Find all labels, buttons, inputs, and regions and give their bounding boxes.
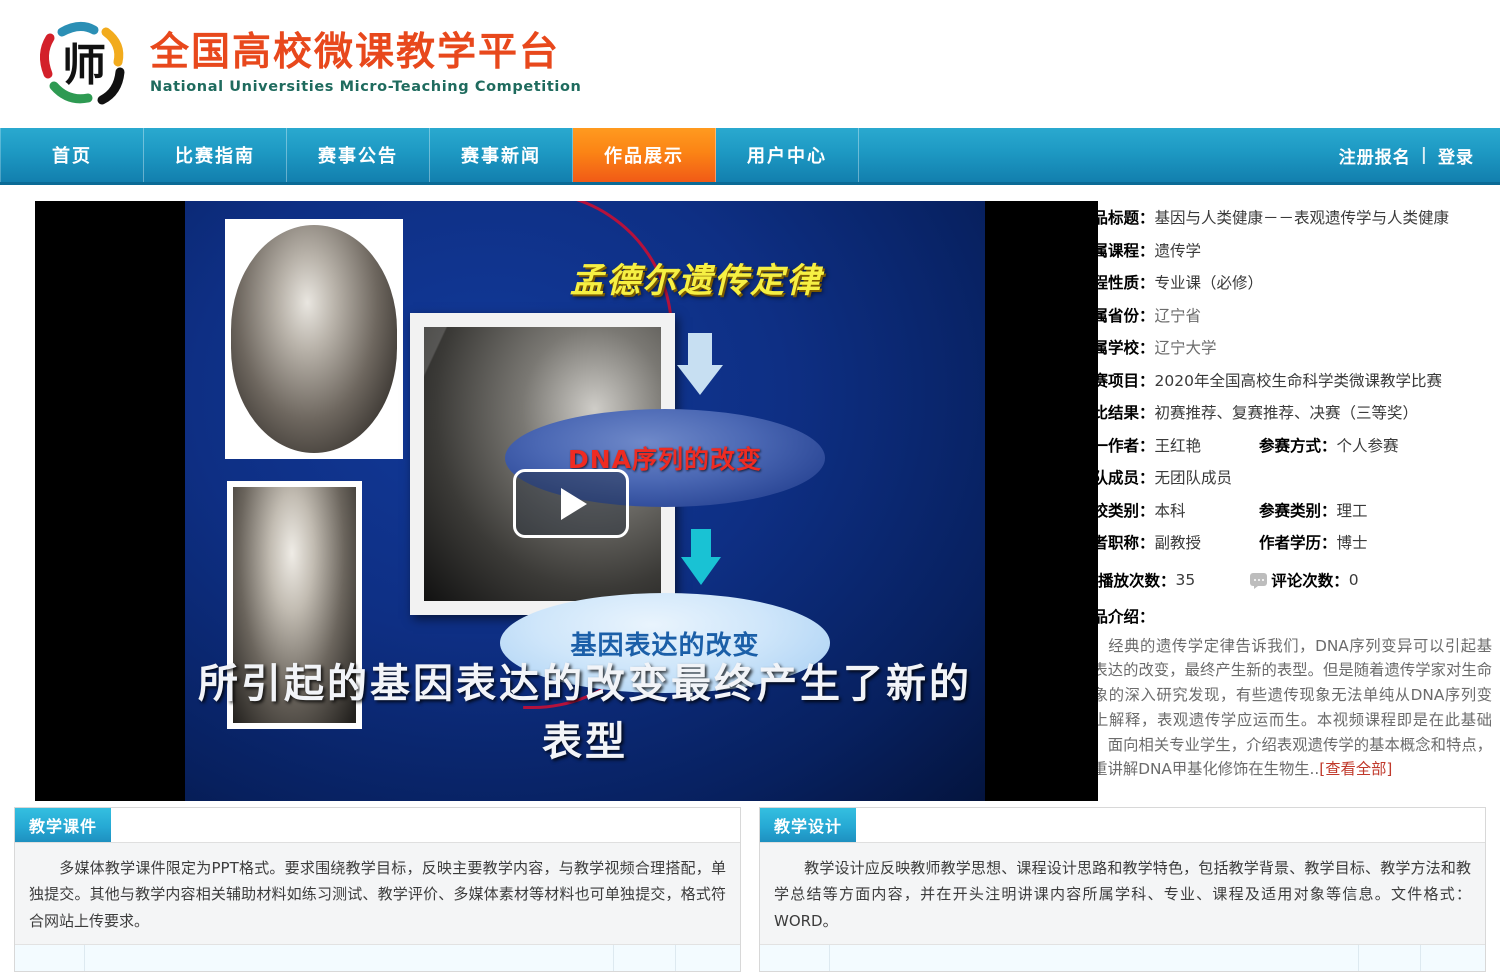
courseware-panel: 教学课件 多媒体教学课件限定为PPT格式。要求围绕教学目标，反映主要教学内容，与…: [14, 807, 741, 972]
courseware-table: [15, 945, 740, 971]
table-col-4: [676, 945, 740, 971]
slide-title: 孟德尔遗传定律: [570, 253, 822, 302]
nav-item-guide[interactable]: 比赛指南: [144, 128, 287, 182]
info-value: 无团队成员: [1155, 471, 1233, 487]
info-label: 参赛类别：: [1259, 504, 1337, 520]
video-column: 孟德尔遗传定律 DNA序列的改变 基因表达的改变 所引起的基因表达的改变最终产生…: [0, 201, 1063, 801]
nav-item-announcements[interactable]: 赛事公告: [287, 128, 430, 182]
register-link[interactable]: 注册报名: [1339, 143, 1411, 168]
work-stats: 播放次数： 35 评论次数： 0: [1077, 569, 1492, 591]
info-row-school: 所属学校： 辽宁大学: [1077, 341, 1492, 357]
courseware-text: 多媒体教学课件限定为PPT格式。要求围绕教学目标，反映主要教学内容，与教学视频合…: [29, 859, 726, 930]
info-value: 辽宁大学: [1155, 341, 1217, 357]
site-logo[interactable]: 师 全国高校微课教学平台 National Universities Micro…: [32, 14, 632, 114]
tab-teaching-design[interactable]: 教学设计: [760, 808, 856, 842]
info-label: 作者学历：: [1259, 536, 1337, 552]
info-value: 辽宁省: [1155, 309, 1202, 325]
info-row-title: 作品标题： 基因与人类健康－－表观遗传学与人类健康: [1077, 211, 1492, 227]
resource-panels: 教学课件 多媒体教学课件限定为PPT格式。要求围绕教学目标，反映主要教学内容，与…: [0, 801, 1500, 972]
brand-title-en: National Universities Micro-Teaching Com…: [150, 79, 581, 95]
info-value: 遗传学: [1155, 244, 1202, 260]
info-value: 博士: [1337, 536, 1368, 552]
intro-text: 经典的遗传学定律告诉我们，DNA序列变异可以引起基因表达的改变，最终产生新的表型…: [1077, 634, 1492, 783]
info-value: 初赛推荐、复赛推荐、决赛（三等奖）: [1155, 406, 1419, 422]
courseware-panel-header: 教学课件: [15, 808, 740, 843]
info-row-course-type: 课程性质： 专业课（必修）: [1077, 276, 1492, 292]
portrait-mendel: [225, 219, 403, 459]
info-value: 基因与人类健康－－表观遗传学与人类健康: [1155, 211, 1450, 227]
play-triangle-icon: [561, 488, 587, 520]
info-label: 参赛方式：: [1259, 439, 1337, 455]
comment-count-label: 评论次数：: [1271, 569, 1349, 591]
info-row-job-title: 作者职称： 副教授 作者学历： 博士: [1077, 536, 1492, 552]
table-col-3: [1359, 945, 1421, 971]
intro-paragraph: 经典的遗传学定律告诉我们，DNA序列变异可以引起基因表达的改变，最终产生新的表型…: [1077, 637, 1492, 779]
info-row-province: 所属省份： 辽宁省: [1077, 309, 1492, 325]
nav-item-works[interactable]: 作品展示: [573, 128, 716, 182]
comment-count-icon: [1250, 573, 1267, 586]
info-row-team: 团队成员： 无团队成员: [1077, 471, 1492, 487]
nav-separator: |: [1421, 145, 1428, 165]
brand-title-cn: 全国高校微课教学平台: [150, 33, 581, 74]
design-table: [760, 945, 1485, 971]
slide-caption: 所引起的基因表达的改变最终产生了新的表型: [185, 651, 985, 767]
view-all-link[interactable]: [查看全部]: [1319, 760, 1392, 778]
tab-courseware[interactable]: 教学课件: [15, 808, 111, 842]
comment-count-value: 0: [1349, 571, 1359, 589]
login-link[interactable]: 登录: [1438, 143, 1474, 168]
nav-item-news[interactable]: 赛事新闻: [430, 128, 573, 182]
table-col-4: [1421, 945, 1485, 971]
main-content: 孟德尔遗传定律 DNA序列的改变 基因表达的改变 所引起的基因表达的改变最终产生…: [0, 185, 1500, 801]
info-row-course: 所属课程： 遗传学: [1077, 244, 1492, 260]
info-value: 副教授: [1155, 536, 1202, 552]
info-value: 本科: [1155, 504, 1186, 520]
design-description: 教学设计应反映教师教学思想、课程设计思路和教学特色，包括教学背景、教学目标、教学…: [760, 843, 1485, 945]
nav-item-home[interactable]: 首页: [0, 128, 144, 182]
design-panel-header: 教学设计: [760, 808, 1485, 843]
arrow-down-light-icon: [677, 333, 723, 395]
brand-mark-icon: 师: [32, 16, 136, 112]
courseware-description: 多媒体教学课件限定为PPT格式。要求围绕教学目标，反映主要教学内容，与教学视频合…: [15, 843, 740, 945]
info-value: 2020年全国高校生命科学类微课教学比赛: [1155, 374, 1442, 390]
info-row-school-type: 学校类别： 本科 参赛类别： 理工: [1077, 504, 1492, 520]
table-col-3: [614, 945, 676, 971]
nav-item-user-center[interactable]: 用户中心: [716, 128, 859, 182]
table-col-2: [830, 945, 1359, 971]
info-row-author: 第一作者： 王红艳 参赛方式： 个人参赛: [1077, 439, 1492, 455]
play-count-value: 35: [1176, 571, 1196, 589]
teaching-design-panel: 教学设计 教学设计应反映教师教学思想、课程设计思路和教学特色，包括教学背景、教学…: [759, 807, 1486, 972]
info-value: 理工: [1337, 504, 1368, 520]
main-navigation: 首页 比赛指南 赛事公告 赛事新闻 作品展示 用户中心 注册报名 | 登录: [0, 128, 1500, 185]
table-col-2: [85, 945, 614, 971]
table-col-1: [15, 945, 85, 971]
info-value: 专业课（必修）: [1155, 276, 1264, 292]
site-header: 师 全国高校微课教学平台 National Universities Micro…: [0, 0, 1500, 128]
info-row-competition: 参赛项目： 2020年全国高校生命科学类微课教学比赛: [1077, 374, 1492, 390]
info-value: 个人参赛: [1337, 439, 1399, 455]
info-value: 王红艳: [1155, 439, 1202, 455]
design-text: 教学设计应反映教师教学思想、课程设计思路和教学特色，包括教学背景、教学目标、教学…: [774, 859, 1471, 930]
work-info-panel: 作品标题： 基因与人类健康－－表观遗传学与人类健康 所属课程： 遗传学 课程性质…: [1063, 201, 1500, 801]
play-count-label: 播放次数：: [1098, 569, 1176, 591]
nav-account-links: 注册报名 | 登录: [1339, 128, 1500, 182]
arrow-down-cyan-icon: [681, 529, 721, 585]
intro-heading: 作品介绍：: [1077, 605, 1492, 627]
table-col-1: [760, 945, 830, 971]
play-button[interactable]: [513, 469, 629, 538]
svg-text:师: 师: [62, 40, 106, 91]
page-root: 师 全国高校微课教学平台 National Universities Micro…: [0, 0, 1500, 956]
video-player[interactable]: 孟德尔遗传定律 DNA序列的改变 基因表达的改变 所引起的基因表达的改变最终产生…: [35, 201, 1098, 801]
info-row-result: 评比结果： 初赛推荐、复赛推荐、决赛（三等奖）: [1077, 406, 1492, 422]
